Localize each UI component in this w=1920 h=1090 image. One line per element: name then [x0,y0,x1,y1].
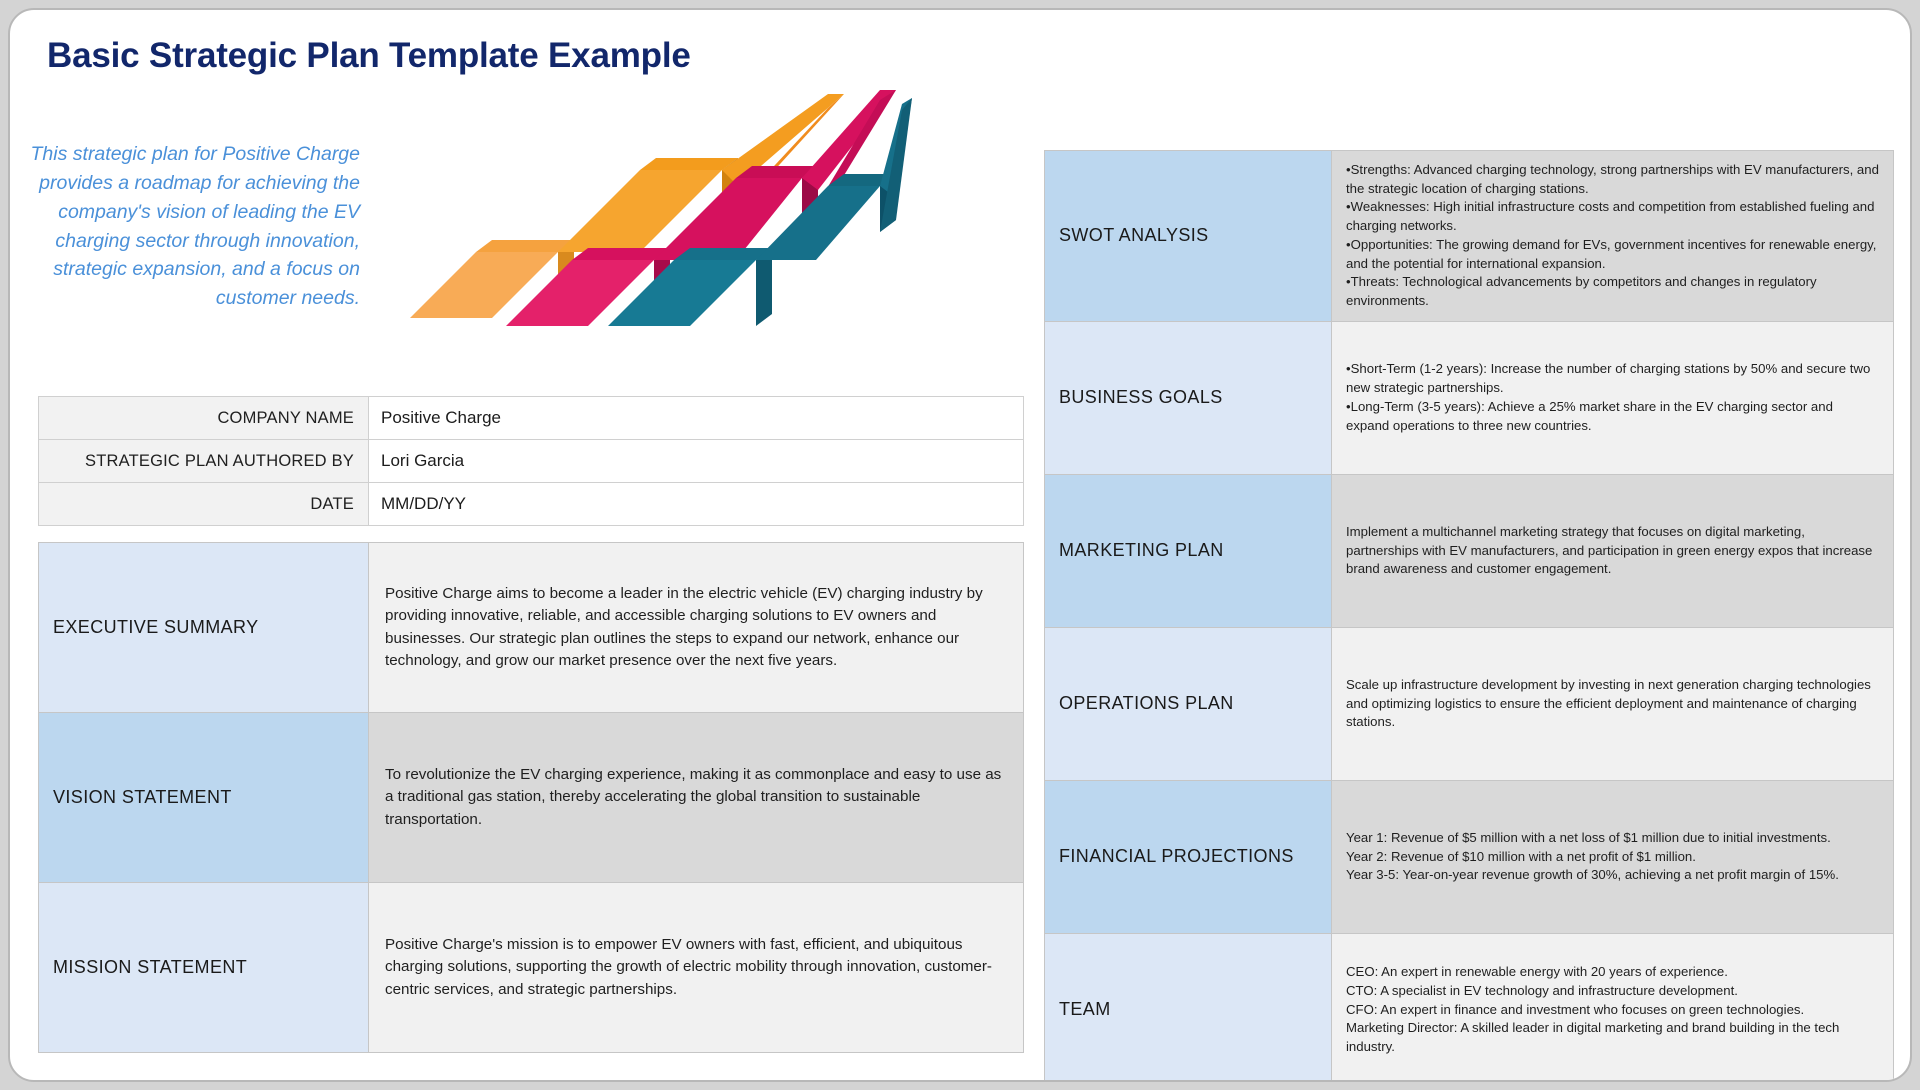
section-row: VISION STATEMENTTo revolutionize the EV … [39,713,1024,883]
section-body-line: Scale up infrastructure development by i… [1346,676,1879,732]
left-sections-body: EXECUTIVE SUMMARYPositive Charge aims to… [39,543,1024,1053]
section-row: SWOT ANALYSIS•Strengths: Advanced chargi… [1045,151,1894,322]
info-value-0[interactable]: Positive Charge [369,397,1024,440]
section-body-3[interactable]: Scale up infrastructure development by i… [1332,627,1894,780]
left-sections-table: EXECUTIVE SUMMARYPositive Charge aims to… [38,542,1024,1053]
section-body-line: •Long-Term (3-5 years): Achieve a 25% ma… [1346,398,1879,435]
section-label-1: VISION STATEMENT [39,713,369,883]
section-body-line: •Opportunities: The growing demand for E… [1346,236,1879,273]
info-label-1: STRATEGIC PLAN AUTHORED BY [39,440,369,483]
section-body-line: Year 3-5: Year-on-year revenue growth of… [1346,866,1879,885]
ascending-3d-ribbons-graphic [410,90,920,390]
right-sections-body: SWOT ANALYSIS•Strengths: Advanced chargi… [1045,151,1894,1083]
section-body-line: CTO: A specialist in EV technology and i… [1346,982,1879,1001]
section-body-line: Marketing Director: A skilled leader in … [1346,1019,1879,1056]
section-label-4: FINANCIAL PROJECTIONS [1045,780,1332,933]
table-row: DATEMM/DD/YY [39,483,1024,526]
section-body-line: Implement a multichannel marketing strat… [1346,523,1879,579]
section-body-line: CEO: An expert in renewable energy with … [1346,963,1879,982]
section-label-5: TEAM [1045,933,1332,1082]
page-title: Basic Strategic Plan Template Example [47,36,691,76]
section-body-0[interactable]: Positive Charge aims to become a leader … [369,543,1024,713]
section-row: EXECUTIVE SUMMARYPositive Charge aims to… [39,543,1024,713]
section-body-line: •Strengths: Advanced charging technology… [1346,161,1879,198]
section-body-0[interactable]: •Strengths: Advanced charging technology… [1332,151,1894,322]
info-value-2[interactable]: MM/DD/YY [369,483,1024,526]
section-body-line: Year 2: Revenue of $10 million with a ne… [1346,848,1879,867]
section-label-2: MISSION STATEMENT [39,883,369,1053]
intro-paragraph: This strategic plan for Positive Charge … [30,140,360,313]
section-row: OPERATIONS PLANScale up infrastructure d… [1045,627,1894,780]
right-sections-table: SWOT ANALYSIS•Strengths: Advanced chargi… [1044,150,1894,1082]
info-label-2: DATE [39,483,369,526]
section-body-line: •Weaknesses: High initial infrastructure… [1346,198,1879,235]
info-label-0: COMPANY NAME [39,397,369,440]
section-body-line: CFO: An expert in finance and investment… [1346,1001,1879,1020]
section-body-2[interactable]: Positive Charge's mission is to empower … [369,883,1024,1053]
section-label-0: SWOT ANALYSIS [1045,151,1332,322]
section-body-line: •Threats: Technological advancements by … [1346,273,1879,310]
section-row: FINANCIAL PROJECTIONSYear 1: Revenue of … [1045,780,1894,933]
section-body-1[interactable]: •Short-Term (1-2 years): Increase the nu… [1332,321,1894,474]
info-value-1[interactable]: Lori Garcia [369,440,1024,483]
section-body-1[interactable]: To revolutionize the EV charging experie… [369,713,1024,883]
section-body-4[interactable]: Year 1: Revenue of $5 million with a net… [1332,780,1894,933]
section-label-0: EXECUTIVE SUMMARY [39,543,369,713]
section-body-2[interactable]: Implement a multichannel marketing strat… [1332,474,1894,627]
info-table-body: COMPANY NAMEPositive ChargeSTRATEGIC PLA… [39,397,1024,526]
section-row: MISSION STATEMENTPositive Charge's missi… [39,883,1024,1053]
section-row: MARKETING PLANImplement a multichannel m… [1045,474,1894,627]
section-row: BUSINESS GOALS•Short-Term (1-2 years): I… [1045,321,1894,474]
section-body-line: •Short-Term (1-2 years): Increase the nu… [1346,360,1879,397]
section-row: TEAMCEO: An expert in renewable energy w… [1045,933,1894,1082]
section-body-line: Year 1: Revenue of $5 million with a net… [1346,829,1879,848]
table-row: COMPANY NAMEPositive Charge [39,397,1024,440]
document-card: Basic Strategic Plan Template Example Th… [8,8,1912,1082]
section-label-1: BUSINESS GOALS [1045,321,1332,474]
section-body-5[interactable]: CEO: An expert in renewable energy with … [1332,933,1894,1082]
section-label-3: OPERATIONS PLAN [1045,627,1332,780]
section-label-2: MARKETING PLAN [1045,474,1332,627]
company-info-table: COMPANY NAMEPositive ChargeSTRATEGIC PLA… [38,396,1024,526]
table-row: STRATEGIC PLAN AUTHORED BYLori Garcia [39,440,1024,483]
